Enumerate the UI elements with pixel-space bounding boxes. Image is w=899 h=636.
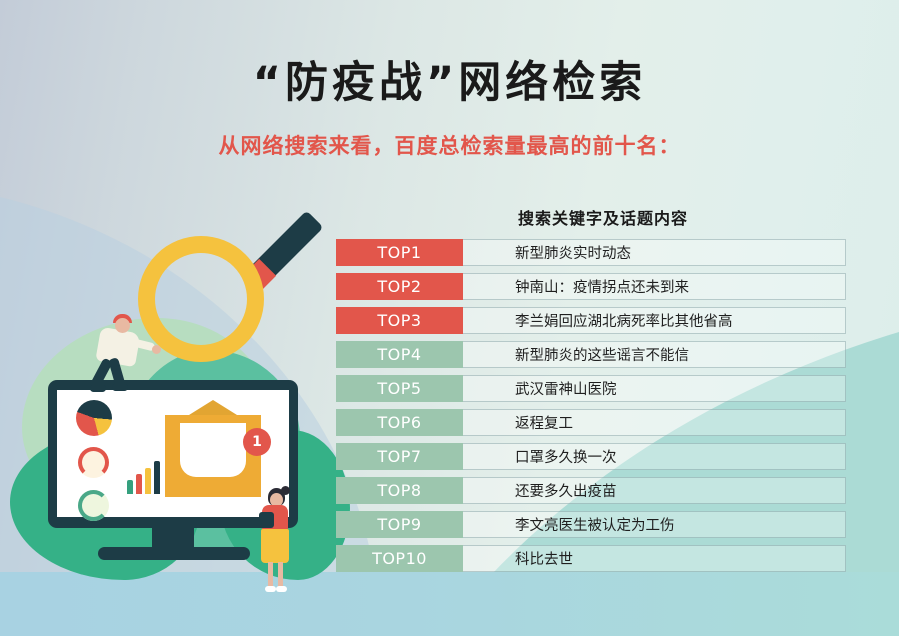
table-row[interactable]: TOP8还要多久出疫苗 xyxy=(336,477,846,504)
man-shoe-front xyxy=(112,384,128,391)
bar-chart-icon xyxy=(127,460,160,494)
page-subtitle: 从网络搜索来看，百度总检索量最高的前十名： xyxy=(0,130,899,160)
bar-3 xyxy=(145,468,151,494)
table-column-header: 搜索关键字及话题内容 xyxy=(336,205,846,229)
table-row[interactable]: TOP6返程复工 xyxy=(336,409,846,436)
keyword-cell: 武汉雷神山医院 xyxy=(463,375,846,402)
ranking-table: 搜索关键字及话题内容 TOP1新型肺炎实时动态TOP2钟南山：疫情拐点还未到来T… xyxy=(336,205,846,579)
woman-shoe-left xyxy=(265,586,276,592)
rank-badge-top2: TOP2 xyxy=(336,273,463,300)
rank-badge-top5: TOP5 xyxy=(336,375,463,402)
table-row[interactable]: TOP3李兰娟回应湖北病死率比其他省高 xyxy=(336,307,846,334)
keyword-cell: 钟南山：疫情拐点还未到来 xyxy=(463,273,846,300)
infographic-poster: “防疫战”网络检索 从网络搜索来看，百度总检索量最高的前十名： 1 xyxy=(0,0,899,636)
magnifier-lens-icon xyxy=(138,236,264,362)
bar-1 xyxy=(127,480,133,494)
bar-4 xyxy=(154,461,160,494)
man-head xyxy=(115,318,130,333)
rank-badge-top8: TOP8 xyxy=(336,477,463,504)
woman-shoe-right xyxy=(276,586,287,592)
keyword-cell: 科比去世 xyxy=(463,545,846,572)
table-row[interactable]: TOP10科比去世 xyxy=(336,545,846,572)
illustration: 1 xyxy=(0,200,360,600)
man-hand xyxy=(152,345,161,354)
donut-chart-red-icon xyxy=(78,447,109,478)
notification-badge: 1 xyxy=(243,428,271,456)
woman-bag xyxy=(259,512,274,528)
table-row[interactable]: TOP7口罩多久换一次 xyxy=(336,443,846,470)
woman-leg-right xyxy=(278,562,283,588)
monitor-base xyxy=(98,547,250,560)
keyword-cell: 新型肺炎实时动态 xyxy=(463,239,846,266)
table-row[interactable]: TOP4新型肺炎的这些谣言不能信 xyxy=(336,341,846,368)
woman-hair-bun xyxy=(281,486,290,495)
pie-chart-icon xyxy=(76,400,112,436)
keyword-cell: 新型肺炎的这些谣言不能信 xyxy=(463,341,846,368)
keyword-cell: 口罩多久换一次 xyxy=(463,443,846,470)
rank-badge-top1: TOP1 xyxy=(336,239,463,266)
woman-skirt xyxy=(261,529,289,563)
keyword-cell: 李兰娟回应湖北病死率比其他省高 xyxy=(463,307,846,334)
rank-badge-top3: TOP3 xyxy=(336,307,463,334)
table-body: TOP1新型肺炎实时动态TOP2钟南山：疫情拐点还未到来TOP3李兰娟回应湖北病… xyxy=(336,239,846,572)
woman-leg-left xyxy=(268,562,273,588)
table-row[interactable]: TOP5武汉雷神山医院 xyxy=(336,375,846,402)
donut-chart-green-icon xyxy=(78,490,109,521)
table-row[interactable]: TOP1新型肺炎实时动态 xyxy=(336,239,846,266)
page-title: “防疫战”网络检索 xyxy=(0,48,899,110)
keyword-cell: 返程复工 xyxy=(463,409,846,436)
keyword-cell: 还要多久出疫苗 xyxy=(463,477,846,504)
table-row[interactable]: TOP9李文亮医生被认定为工伤 xyxy=(336,511,846,538)
man-shoe-back xyxy=(90,385,106,392)
keyword-cell: 李文亮医生被认定为工伤 xyxy=(463,511,846,538)
rank-badge-top4: TOP4 xyxy=(336,341,463,368)
envelope-letter xyxy=(180,423,246,477)
table-row[interactable]: TOP2钟南山：疫情拐点还未到来 xyxy=(336,273,846,300)
bar-2 xyxy=(136,474,142,494)
rank-badge-top7: TOP7 xyxy=(336,443,463,470)
rank-badge-top10: TOP10 xyxy=(336,545,463,572)
rank-badge-top9: TOP9 xyxy=(336,511,463,538)
rank-badge-top6: TOP6 xyxy=(336,409,463,436)
